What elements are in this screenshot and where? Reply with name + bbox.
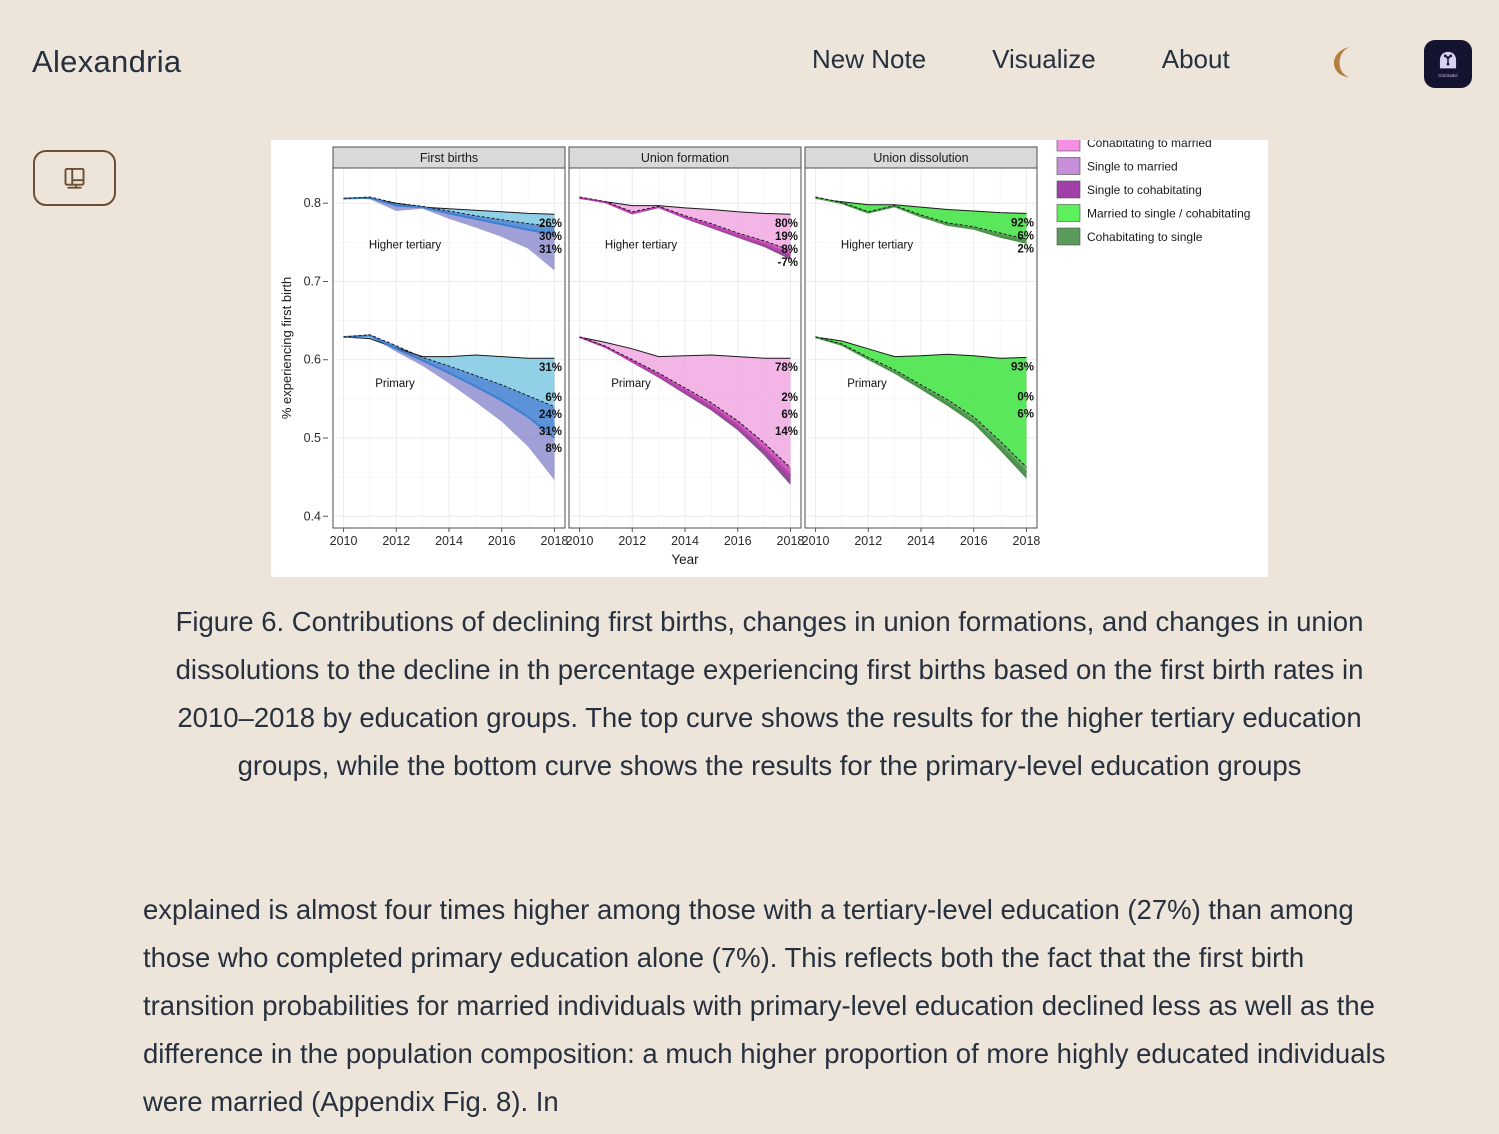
- panel-group-label-tertiary: Higher tertiary: [841, 240, 913, 252]
- app-brand-title[interactable]: Alexandria: [32, 44, 181, 80]
- annotation-primary: 78%: [775, 362, 798, 374]
- nav-visualize[interactable]: Visualize: [992, 44, 1096, 75]
- annotation-primary: 31%: [539, 426, 562, 438]
- annotation-tertiary: -7%: [778, 257, 798, 269]
- legend-label: Married to single / cohabitating: [1087, 207, 1250, 221]
- x-tick-label: 2012: [382, 534, 410, 548]
- panel-strip-title: Union formation: [641, 151, 729, 165]
- chart-legend: Cohabitating to marriedSingle to married…: [1057, 140, 1250, 245]
- x-tick-label: 2012: [618, 534, 646, 548]
- library-toggle-button[interactable]: [33, 150, 116, 206]
- annotation-primary: 31%: [539, 362, 562, 374]
- annotation-primary: 2%: [781, 392, 798, 404]
- chart-panel-2: Union formationHigher tertiaryPrimary80%…: [566, 147, 805, 548]
- annotation-primary: 24%: [539, 409, 562, 421]
- main-nav-links: New Note Visualize About: [812, 44, 1230, 75]
- annotation-primary: 14%: [775, 426, 798, 438]
- book-icon: [61, 165, 88, 192]
- x-tick-label: 2014: [907, 534, 935, 548]
- y-tick-label: 0.6: [304, 353, 321, 367]
- legend-swatch: [1057, 140, 1080, 151]
- annotation-tertiary: 80%: [775, 218, 798, 230]
- body-paragraph: explained is almost four times higher am…: [143, 886, 1392, 1126]
- figure-6-chart: % experiencing first birth0.40.50.60.70.…: [271, 140, 1268, 577]
- x-tick-label: 2014: [671, 534, 699, 548]
- x-tick-label: 2010: [802, 534, 830, 548]
- legend-label: Single to married: [1087, 160, 1178, 174]
- panel-strip-title: First births: [420, 151, 478, 165]
- x-tick-label: 2012: [854, 534, 882, 548]
- x-axis-title: Year: [671, 552, 699, 567]
- annotation-primary: 0%: [1017, 391, 1034, 403]
- nav-about[interactable]: About: [1162, 44, 1230, 75]
- x-tick-label: 2014: [435, 534, 463, 548]
- annotation-tertiary: 6%: [1017, 230, 1034, 242]
- panel-group-label-primary: Primary: [611, 378, 651, 390]
- logo-caption: GitCitadel: [1438, 73, 1457, 78]
- gitcitadel-logo-badge[interactable]: GitCitadel: [1424, 40, 1472, 88]
- figure-caption: Figure 6. Contributions of declining fir…: [145, 598, 1394, 790]
- annotation-tertiary: 92%: [1011, 217, 1034, 229]
- chart-panel-1: First birthsHigher tertiaryPrimary26%30%…: [330, 147, 569, 548]
- x-tick-label: 2010: [330, 534, 358, 548]
- legend-label: Single to cohabitating: [1087, 183, 1202, 197]
- x-tick-label: 2018: [1013, 534, 1041, 548]
- legend-label: Cohabitating to married: [1087, 140, 1212, 150]
- x-tick-label: 2018: [777, 534, 805, 548]
- x-tick-label: 2016: [488, 534, 516, 548]
- chart-panel-3: Union dissolutionHigher tertiaryPrimary9…: [802, 147, 1041, 548]
- x-tick-label: 2016: [960, 534, 988, 548]
- x-tick-label: 2016: [724, 534, 752, 548]
- panel-group-label-tertiary: Higher tertiary: [605, 240, 677, 252]
- legend-swatch: [1057, 205, 1080, 222]
- legend-swatch: [1057, 181, 1080, 198]
- y-tick-label: 0.7: [304, 274, 321, 288]
- annotation-primary: 6%: [545, 392, 562, 404]
- panel-strip-title: Union dissolution: [873, 151, 968, 165]
- y-axis-title: % experiencing first birth: [279, 277, 294, 419]
- x-tick-label: 2010: [566, 534, 594, 548]
- annotation-primary: 8%: [545, 443, 562, 455]
- figure-image-container: % experiencing first birth0.40.50.60.70.…: [271, 140, 1268, 577]
- gitcitadel-logo-icon: [1437, 50, 1459, 72]
- annotation-tertiary: 31%: [539, 244, 562, 256]
- panel-group-label-primary: Primary: [847, 378, 887, 390]
- annotation-tertiary: 19%: [775, 231, 798, 243]
- theme-toggle-button[interactable]: [1324, 43, 1360, 81]
- annotation-primary: 6%: [1017, 408, 1034, 420]
- y-tick-label: 0.4: [304, 509, 321, 523]
- top-navigation-bar: Alexandria New Note Visualize About GitC…: [0, 0, 1499, 124]
- annotation-primary: 6%: [781, 409, 798, 421]
- panel-group-label-tertiary: Higher tertiary: [369, 240, 441, 252]
- nav-new-note[interactable]: New Note: [812, 44, 926, 75]
- panel-group-label-primary: Primary: [375, 378, 415, 390]
- annotation-tertiary: 30%: [539, 231, 562, 243]
- y-tick-label: 0.8: [304, 196, 321, 210]
- moon-icon: [1325, 44, 1359, 80]
- legend-label: Cohabitating to single: [1087, 230, 1203, 244]
- y-tick-label: 0.5: [304, 431, 321, 445]
- annotation-tertiary: 2%: [1017, 243, 1034, 255]
- annotation-primary: 93%: [1011, 361, 1034, 373]
- annotation-tertiary: 26%: [539, 218, 562, 230]
- legend-swatch: [1057, 228, 1080, 245]
- annotation-tertiary: 8%: [781, 244, 798, 256]
- legend-swatch: [1057, 158, 1080, 175]
- x-tick-label: 2018: [541, 534, 569, 548]
